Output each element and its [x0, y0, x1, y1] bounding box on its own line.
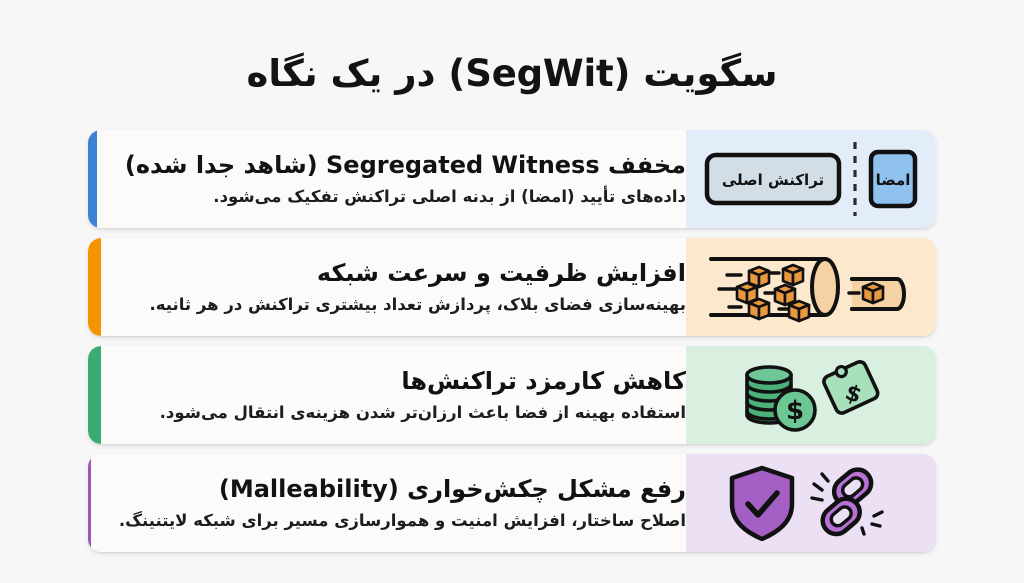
icon-panel-malleability-fix [686, 454, 936, 552]
card-segregated-witness[interactable]: تراکنش اصلی امضا مخفف Segregated Witness… [88, 130, 936, 228]
icon-panel-capacity-speed [686, 238, 936, 336]
card-heading: مخفف Segregated Witness (شاهد جدا شده) [125, 150, 686, 180]
shield-check-broken-chain-icon [724, 462, 899, 544]
accent-bar-purple [88, 454, 91, 552]
card-lower-fees[interactable]: $ $ کاهش کارمزد تراکنش‌ها استفاده بهینه … [88, 346, 936, 444]
card-heading: کاهش کارمزد تراکنش‌ها [129, 366, 686, 396]
icon-label-main-box: تراکنش اصلی [721, 171, 823, 189]
card-subtitle: اصلاح ساختار، افزایش امنیت و هموارسازی م… [119, 510, 686, 531]
coin-dollar-symbol: $ [786, 396, 804, 426]
card-subtitle: بهینه‌سازی فضای بلاک، پردازش تعداد بیشتر… [129, 294, 686, 315]
card-list: تراکنش اصلی امضا مخفف Segregated Witness… [88, 130, 936, 552]
accent-bar-green [88, 346, 101, 444]
accent-bar-blue [88, 130, 97, 228]
coin-stack-price-tag-icon: $ $ [735, 355, 887, 435]
card-text-malleability-fix: رفع مشکل چکش‌خواری (Malleability) اصلاح … [91, 454, 686, 552]
card-heading: افزایش ظرفیت و سرعت شبکه [129, 258, 686, 288]
card-subtitle: داده‌های تأیید (امضا) از بدنه اصلی تراکن… [125, 186, 686, 207]
card-heading: رفع مشکل چکش‌خواری (Malleability) [119, 474, 686, 504]
card-text-lower-fees: کاهش کارمزد تراکنش‌ها استفاده بهینه از ف… [101, 346, 686, 444]
card-capacity-speed[interactable]: افزایش ظرفیت و سرعت شبکه بهینه‌سازی فضای… [88, 238, 936, 336]
accent-bar-orange [88, 238, 101, 336]
page-title: سگویت (SegWit) در یک نگاه [0, 25, 1024, 96]
split-transaction-signature-icon: تراکنش اصلی امضا [704, 142, 919, 216]
card-text-capacity-speed: افزایش ظرفیت و سرعت شبکه بهینه‌سازی فضای… [101, 238, 686, 336]
card-malleability-fix[interactable]: رفع مشکل چکش‌خواری (Malleability) اصلاح … [88, 454, 936, 552]
icon-label-signature-box: امضا [875, 171, 910, 189]
icon-panel-lower-fees: $ $ [686, 346, 936, 444]
icon-panel-segregated-witness: تراکنش اصلی امضا [686, 130, 936, 228]
wide-pipe-throughput-icon [705, 249, 918, 325]
card-subtitle: استفاده بهینه از فضا باعث ارزان‌تر شدن ه… [129, 402, 686, 423]
card-text-segregated-witness: مخفف Segregated Witness (شاهد جدا شده) د… [97, 130, 686, 228]
infographic-page: سگویت (SegWit) در یک نگاه تراکنش اصلی ام… [0, 25, 1024, 583]
